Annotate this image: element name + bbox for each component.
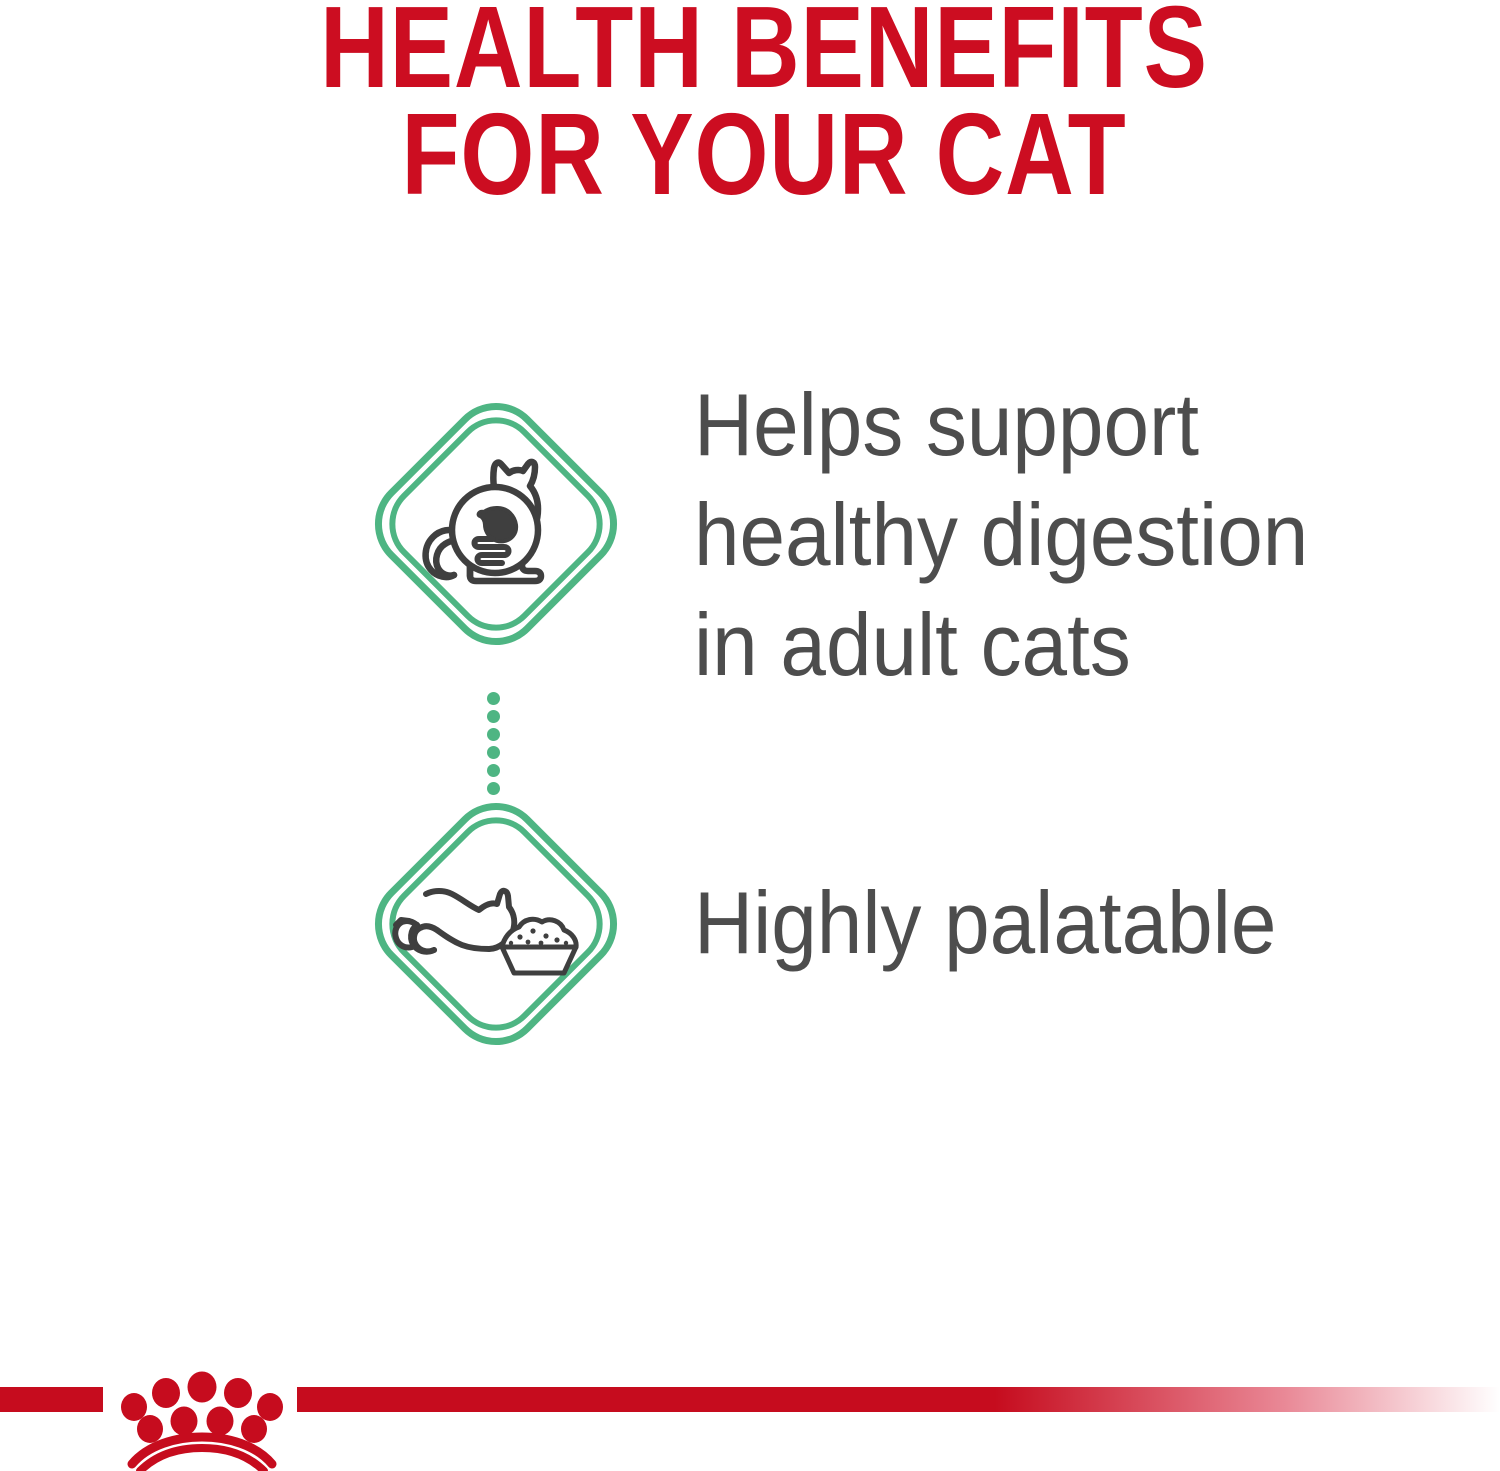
- benefit-text-line: Helps support: [694, 370, 1429, 480]
- benefits-list: Helps support healthy digestion in adult…: [0, 380, 1500, 1070]
- benefit-item: Helps support healthy digestion in adult…: [0, 380, 1500, 670]
- page-title: HEALTH BENEFITS FOR YOUR CAT: [0, 0, 1500, 208]
- footer-bar-left: [0, 1387, 103, 1412]
- connector-dot: [487, 728, 500, 741]
- cat-eating-bowl-icon: [352, 780, 640, 1068]
- benefit-text: Helps support healthy digestion in adult…: [694, 370, 1429, 700]
- benefit-text-line: in adult cats: [694, 590, 1429, 700]
- footer: [0, 1371, 1500, 1471]
- page-title-line-1: HEALTH BENEFITS: [160, 0, 1367, 101]
- connector-dot: [487, 764, 500, 777]
- dotted-connector: [478, 692, 508, 792]
- footer-bar-right: [297, 1387, 1500, 1412]
- connector-dot: [487, 710, 500, 723]
- benefit-item: Highly palatable: [0, 780, 1500, 1070]
- benefit-text-line: Highly palatable: [694, 868, 1429, 978]
- page-title-line-2: FOR YOUR CAT: [160, 101, 1367, 208]
- benefit-text-line: healthy digestion: [694, 480, 1429, 590]
- benefit-text: Highly palatable: [694, 868, 1429, 978]
- connector-dot: [487, 746, 500, 759]
- royal-canin-crown-logo: [104, 1367, 300, 1471]
- connector-dot: [487, 692, 500, 705]
- connector-dot: [487, 782, 500, 795]
- cat-digestion-icon: [352, 380, 640, 668]
